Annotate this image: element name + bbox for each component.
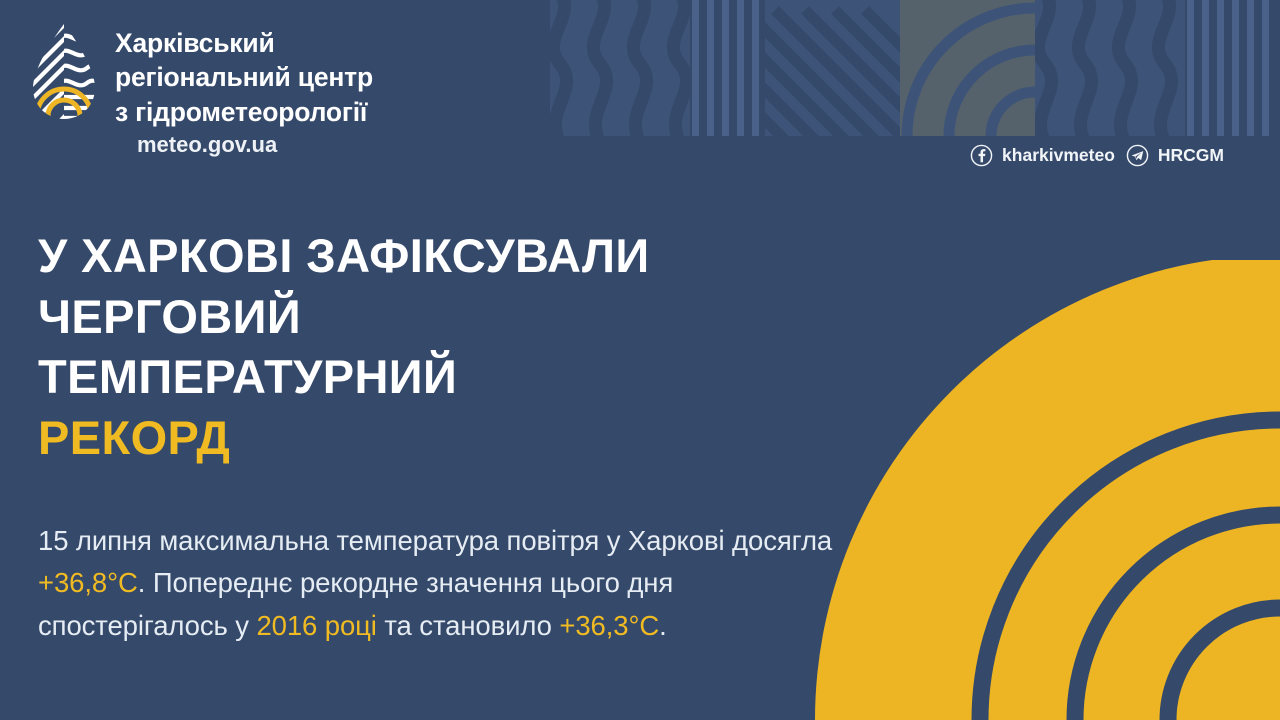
body-paragraph: 15 липня максимальна температура повітря… bbox=[38, 520, 838, 649]
temperature-previous: +36,3°C bbox=[559, 610, 659, 641]
logo-wordmark: Харківський регіональний центр з гідроме… bbox=[115, 22, 373, 161]
body-part-1: 15 липня максимальна температура повітря… bbox=[38, 525, 832, 556]
headline-line-2: ЧЕРГОВИЙ bbox=[38, 287, 828, 348]
pattern-panel-bars-left bbox=[690, 0, 765, 136]
pattern-panel-waves-right bbox=[1035, 0, 1185, 136]
logo-line-1: Харківський bbox=[115, 26, 373, 60]
pattern-panel-waves-left bbox=[550, 0, 690, 136]
pattern-panel-diagonals bbox=[765, 0, 900, 136]
water-droplet-logo-icon bbox=[27, 22, 101, 122]
logo-line-2: регіональний центр bbox=[115, 60, 373, 94]
header-decorative-pattern bbox=[550, 0, 1280, 136]
pattern-panel-arcs bbox=[900, 0, 1035, 136]
wave-lines-right-icon bbox=[1035, 0, 1185, 136]
wave-lines-icon bbox=[550, 0, 690, 136]
website-url[interactable]: meteo.gov.ua bbox=[115, 129, 373, 161]
concentric-arcs-icon bbox=[900, 0, 1035, 136]
diagonal-stripes-icon bbox=[765, 0, 900, 136]
vertical-bars-right-icon bbox=[1185, 0, 1280, 136]
headline-line-1: У ХАРКОВІ ЗАФІКСУВАЛИ bbox=[38, 226, 828, 287]
headline-line-4-accent: РЕКОРД bbox=[38, 408, 828, 469]
social-links: kharkivmeteo HRCGM bbox=[970, 144, 1224, 167]
yellow-circle-graphic bbox=[760, 260, 1280, 720]
facebook-handle: kharkivmeteo bbox=[1002, 145, 1115, 166]
poster-canvas: Харківський регіональний центр з гідроме… bbox=[0, 0, 1280, 720]
logo-line-3: з гідрометеорології bbox=[115, 95, 373, 129]
headline-line-3: ТЕМПЕРАТУРНИЙ bbox=[38, 347, 828, 408]
concentric-circles-icon bbox=[760, 260, 1280, 720]
pattern-panel-bars-right bbox=[1185, 0, 1280, 136]
social-link-telegram[interactable]: HRCGM bbox=[1126, 144, 1224, 167]
facebook-icon bbox=[970, 144, 993, 167]
telegram-icon bbox=[1126, 144, 1149, 167]
organization-logo: Харківський регіональний центр з гідроме… bbox=[27, 22, 373, 161]
temperature-current: +36,8°C bbox=[38, 567, 138, 598]
previous-record-year: 2016 році bbox=[256, 610, 376, 641]
body-part-4: . bbox=[659, 610, 667, 641]
vertical-bars-icon bbox=[690, 0, 765, 136]
page-title: У ХАРКОВІ ЗАФІКСУВАЛИ ЧЕРГОВИЙ ТЕМПЕРАТУ… bbox=[38, 226, 828, 469]
social-link-facebook[interactable]: kharkivmeteo bbox=[970, 144, 1115, 167]
body-part-3: та становило bbox=[377, 610, 560, 641]
telegram-handle: HRCGM bbox=[1158, 145, 1224, 166]
